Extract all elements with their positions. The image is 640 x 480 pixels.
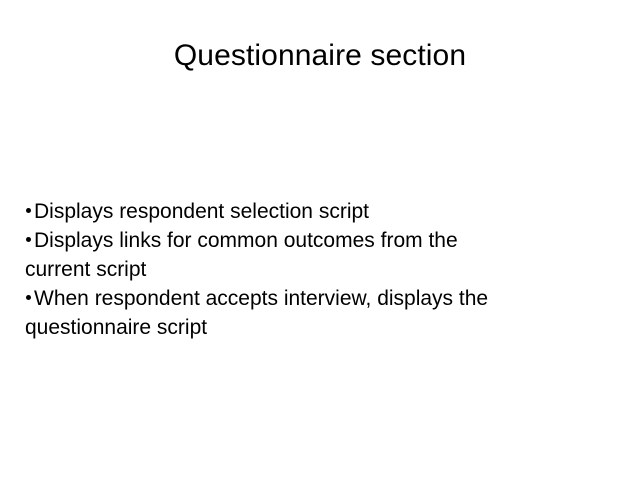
list-item: When respondent accepts interview, displ… xyxy=(25,284,625,313)
list-item-label: Displays respondent selection script xyxy=(34,200,369,223)
bullet-icon xyxy=(26,208,31,213)
slide-canvas: Questionnaire section Displays responden… xyxy=(0,0,640,480)
list-item-label: questionnaire script xyxy=(25,316,207,339)
list-item: Displays respondent selection script xyxy=(25,197,625,226)
bullet-icon xyxy=(26,295,31,300)
bullet-list: Displays respondent selection script Dis… xyxy=(25,197,625,342)
page-title: Questionnaire section xyxy=(0,38,640,74)
list-item-continuation: current script xyxy=(25,255,625,284)
list-item-label: Displays links for common outcomes from … xyxy=(34,229,458,252)
list-item-continuation: questionnaire script xyxy=(25,313,625,342)
list-item-label: When respondent accepts interview, displ… xyxy=(34,287,488,310)
bullet-icon xyxy=(26,237,31,242)
list-item: Displays links for common outcomes from … xyxy=(25,226,625,255)
list-item-label: current script xyxy=(25,258,146,281)
